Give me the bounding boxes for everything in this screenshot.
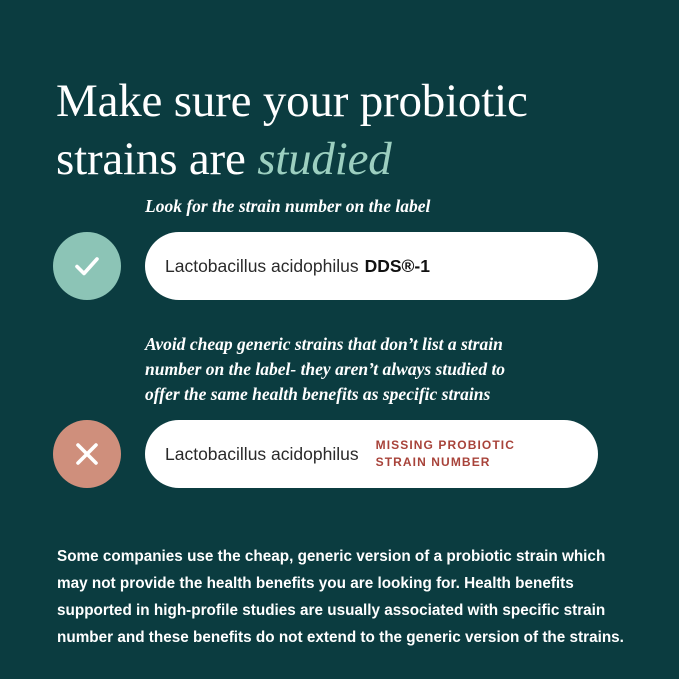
good-example-row: Lactobacillus acidophilus DDS®-1 [53, 232, 613, 300]
good-example-caption-line-1: Look for the strain number on the label [145, 194, 605, 219]
page-title-line-2: strains are studied [56, 130, 636, 188]
bad-example-row: Lactobacillus acidophilus MISSING PROBIO… [53, 420, 613, 488]
page-title-accent-word: studied [257, 133, 391, 185]
infographic-page: Make sure your probiotic strains are stu… [0, 0, 679, 679]
footnote-line-1: Some companies use the cheap, generic ve… [57, 543, 637, 570]
good-example-pill-content: Lactobacillus acidophilus DDS®-1 [145, 256, 598, 277]
good-example-strain-name: Lactobacillus acidophilus [165, 256, 359, 277]
page-title-line-2-prefix: strains are [56, 133, 257, 185]
page-title: Make sure your probiotic strains are stu… [56, 72, 636, 188]
page-title-line-1: Make sure your probiotic [56, 72, 636, 130]
good-example-pill: Lactobacillus acidophilus DDS®-1 [145, 232, 598, 300]
footnote-line-4: number and these benefits do not extend … [57, 624, 637, 651]
bad-example-caption-line-3: offer the same health benefits as specif… [145, 382, 595, 407]
missing-strain-number-note: MISSING PROBIOTIC STRAIN NUMBER [376, 437, 515, 471]
missing-strain-number-line-1: MISSING PROBIOTIC [376, 437, 515, 454]
footnote-paragraph: Some companies use the cheap, generic ve… [57, 543, 637, 651]
bad-example-pill: Lactobacillus acidophilus MISSING PROBIO… [145, 420, 598, 488]
cross-icon [69, 436, 105, 472]
bad-example-caption: Avoid cheap generic strains that don’t l… [145, 332, 595, 407]
bad-example-caption-line-2: number on the label- they aren’t always … [145, 357, 595, 382]
bad-example-strain-name: Lactobacillus acidophilus [165, 444, 359, 465]
footnote-line-2: may not provide the health benefits you … [57, 570, 637, 597]
bad-example-pill-content: Lactobacillus acidophilus MISSING PROBIO… [145, 437, 598, 471]
good-example-caption: Look for the strain number on the label [145, 194, 605, 219]
check-badge [53, 232, 121, 300]
footnote-line-3: supported in high-profile studies are us… [57, 597, 637, 624]
bad-example-caption-line-1: Avoid cheap generic strains that don’t l… [145, 332, 595, 357]
cross-badge [53, 420, 121, 488]
missing-strain-number-line-2: STRAIN NUMBER [376, 454, 515, 471]
check-icon [69, 248, 105, 284]
good-example-strain-code: DDS®-1 [365, 256, 430, 277]
